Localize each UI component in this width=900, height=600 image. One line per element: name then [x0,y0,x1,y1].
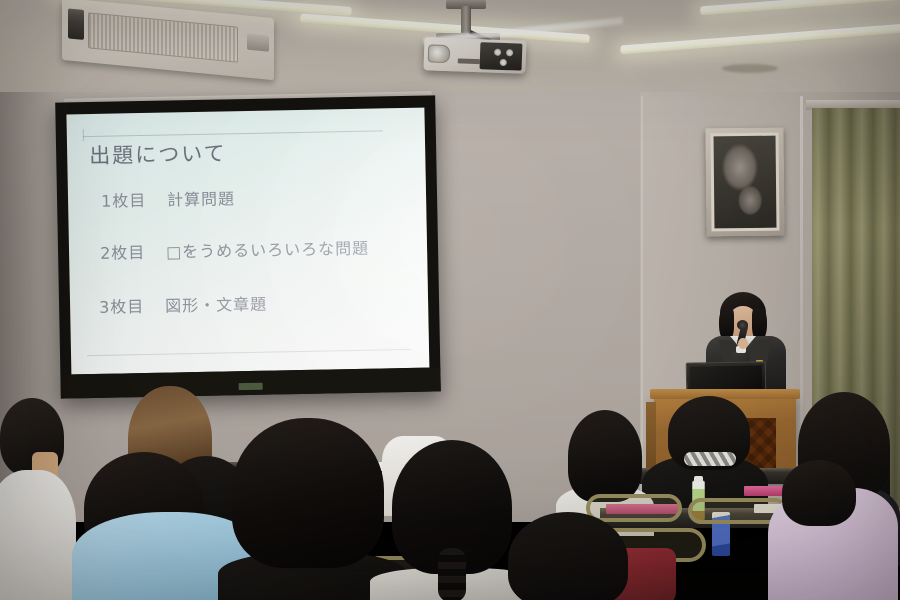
projector-vent-icon [458,58,480,64]
slide-bullet-2-text: □をうめるいろいろな問題 [166,235,370,263]
slide-bullet-2-number: 2枚目 [100,239,166,264]
microphone-head-icon [737,320,748,330]
slide-bullet-3-number: 3枚目 [99,293,165,318]
slide-bullet-1: 1枚目 計算問題 [101,185,235,212]
projector-rear-body [480,42,523,70]
classroom-photo-scene: 出題について 1枚目 計算問題 2枚目 □をうめるいろいろな問題 3枚目 図形・… [0,0,900,600]
slide-bullet-3: 3枚目 図形・文章題 [99,291,267,318]
framed-portrait [705,128,784,237]
slide-bullet-2: 2枚目 □をうめるいろいろな問題 [100,235,370,264]
audience-member-center-long-hair [232,418,384,568]
presenter-hand [738,338,748,349]
podium-top-surface [650,389,800,399]
slide-bullet-1-text: 計算問題 [167,185,235,210]
portrait-photo [714,136,777,229]
audience-member-front-center-head [508,512,628,600]
audience-member-pink-hoodie-head [782,460,856,526]
slide-title: 出題について [89,137,227,170]
projection-screen: 出題について 1枚目 計算問題 2枚目 □をうめるいろいろな問題 3枚目 図形・… [55,95,441,398]
wall-seam [641,96,643,456]
audience-member-mid-head [568,410,642,502]
portrait-mat [710,133,779,232]
chair-back-1 [586,494,682,522]
audience-member-scarf [684,452,736,466]
ac-grille-icon [88,12,238,62]
slide-title-rule [83,130,383,137]
ac-vent-left-icon [68,8,84,40]
bottle-cap [694,476,703,482]
slide-footer-rule [87,349,411,356]
projected-slide: 出題について 1枚目 計算問題 2枚目 □をうめるいろいろな問題 3枚目 図形・… [66,108,429,375]
audience-member-braid-icon [438,548,466,600]
ceiling-projector [423,37,526,74]
slide-bullet-1-number: 1枚目 [101,187,167,212]
screen-pull-tab [239,383,263,390]
slide-content: 出題について 1枚目 計算問題 2枚目 □をうめるいろいろな問題 3枚目 図形・… [66,108,429,375]
ceiling-smoke-detector-icon [722,64,778,73]
ac-vent-right-icon [247,34,269,52]
audience-member-left-white-shirt [0,470,76,600]
projector-lens-icon [428,44,451,63]
slide-bullet-3-text: 図形・文章題 [165,291,267,317]
